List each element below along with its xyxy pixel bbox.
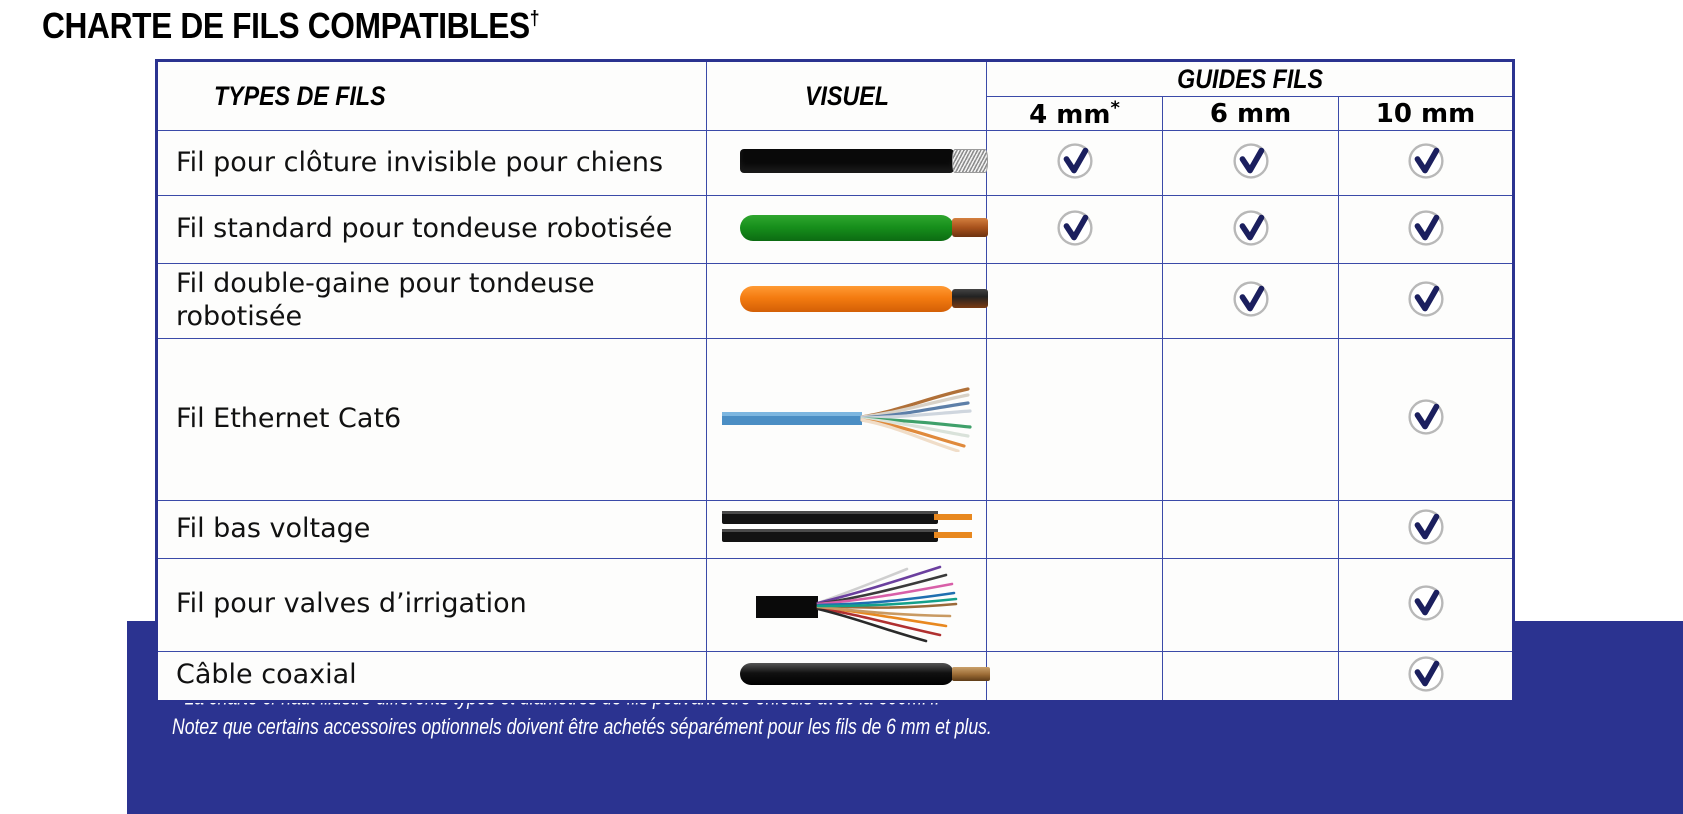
page-title-text: CHARTE DE FILS COMPATIBLES [42,5,530,46]
header-guides-fils: GUIDES FILS [1023,61,1476,97]
guide-cell-4mm [987,500,1163,558]
table-head: TYPES DE FILS VISUEL GUIDES FILS 4 mm* 6… [157,61,1514,131]
check-circle-icon [1407,655,1445,693]
row-label: Fil standard pour tondeuse robotisée [157,196,707,264]
check-circle-icon [1407,142,1445,180]
check-circle-icon [1407,584,1445,622]
compatible-wires-table: TYPES DE FILS VISUEL GUIDES FILS 4 mm* 6… [155,59,1515,703]
check-circle-icon [1407,398,1445,436]
table-row: Fil pour valves d’irrigation [157,558,1514,651]
check-circle-icon [1407,209,1445,247]
table-row: Câble coaxial [157,651,1514,701]
footer-note-line-2: Notez que certains accessoires optionnel… [172,712,1373,742]
page-title-dagger: † [530,8,539,30]
check-circle-icon [1056,142,1094,180]
check-circle-icon [1056,209,1094,247]
braided-end-icon [952,149,988,173]
row-label: Fil pour valves d’irrigation [157,558,707,651]
page-title: CHARTE DE FILS COMPATIBLES† [42,5,539,47]
green-standard-mower-wire-icon [740,215,954,241]
guide-cell-4mm [987,131,1163,196]
guide-cell-10mm [1339,338,1514,500]
guide-cell-6mm [1163,131,1339,196]
guide-cell-6mm [1163,651,1339,701]
table-row: Fil pour clôture invisible pour chiens [157,131,1514,196]
guide-cell-10mm [1339,196,1514,264]
row-label: Fil double-gaine pour tondeuse robotisée [157,264,707,339]
orange-double-jacket-wire-icon [740,286,954,312]
check-circle-icon [1232,142,1270,180]
multicolor-irrigation-valve-wire-icon [722,563,972,643]
black-fence-wire-icon [740,149,954,173]
table-row: Fil standard pour tondeuse robotisée [157,196,1514,264]
wire-visual-black-coaxial-cable [707,651,987,701]
guide-cell-10mm [1339,558,1514,651]
guide-cell-6mm [1163,558,1339,651]
row-label: Fil Ethernet Cat6 [157,338,707,500]
guide-cell-6mm [1163,264,1339,339]
check-circle-icon [1407,508,1445,546]
header-guide-10mm: 10 mm [1339,97,1514,131]
guide-cell-10mm [1339,264,1514,339]
guide-cell-4mm [987,558,1163,651]
black-coaxial-cable-icon [740,663,954,685]
table-row: Fil Ethernet Cat6 [157,338,1514,500]
wire-visual-orange-double-jacket-wire [707,264,987,339]
guide-cell-4mm [987,196,1163,264]
wire-visual-black-fence-wire [707,131,987,196]
header-types-de-fils: TYPES DE FILS [195,61,668,131]
guide-cell-10mm [1339,131,1514,196]
guide-cell-10mm [1339,651,1514,701]
blue-cat6-ethernet-cable-icon [722,382,972,452]
table-row: Fil double-gaine pour tondeuse robotisée [157,264,1514,339]
row-label: Câble coaxial [157,651,707,701]
guide-cell-4mm [987,651,1163,701]
guide-cell-6mm [1163,196,1339,264]
table-header-row-top: TYPES DE FILS VISUEL GUIDES FILS [157,61,1514,97]
table-body: Fil pour clôture invisible pour chiens [157,131,1514,702]
wire-visual-black-low-voltage-twin-wire [707,500,987,558]
guide-cell-4mm [987,264,1163,339]
guide-cell-6mm [1163,338,1339,500]
guide-cell-10mm [1339,500,1514,558]
wire-visual-green-standard-mower-wire [707,196,987,264]
check-circle-icon [1407,280,1445,318]
wire-visual-blue-cat6-ethernet-cable [707,338,987,500]
row-label: Fil pour clôture invisible pour chiens [157,131,707,196]
check-circle-icon [1232,280,1270,318]
header-guide-6mm: 6 mm [1163,97,1339,131]
guide-cell-6mm [1163,500,1339,558]
wire-visual-multicolor-irrigation-valve-wire [707,558,987,651]
guide-cell-4mm [987,338,1163,500]
row-label: Fil bas voltage [157,500,707,558]
header-guide-4mm: 4 mm* [987,97,1163,131]
black-low-voltage-twin-wire-icon [722,510,972,544]
header-visuel: VISUEL [726,61,967,131]
table-row: Fil bas voltage [157,500,1514,558]
check-circle-icon [1232,209,1270,247]
